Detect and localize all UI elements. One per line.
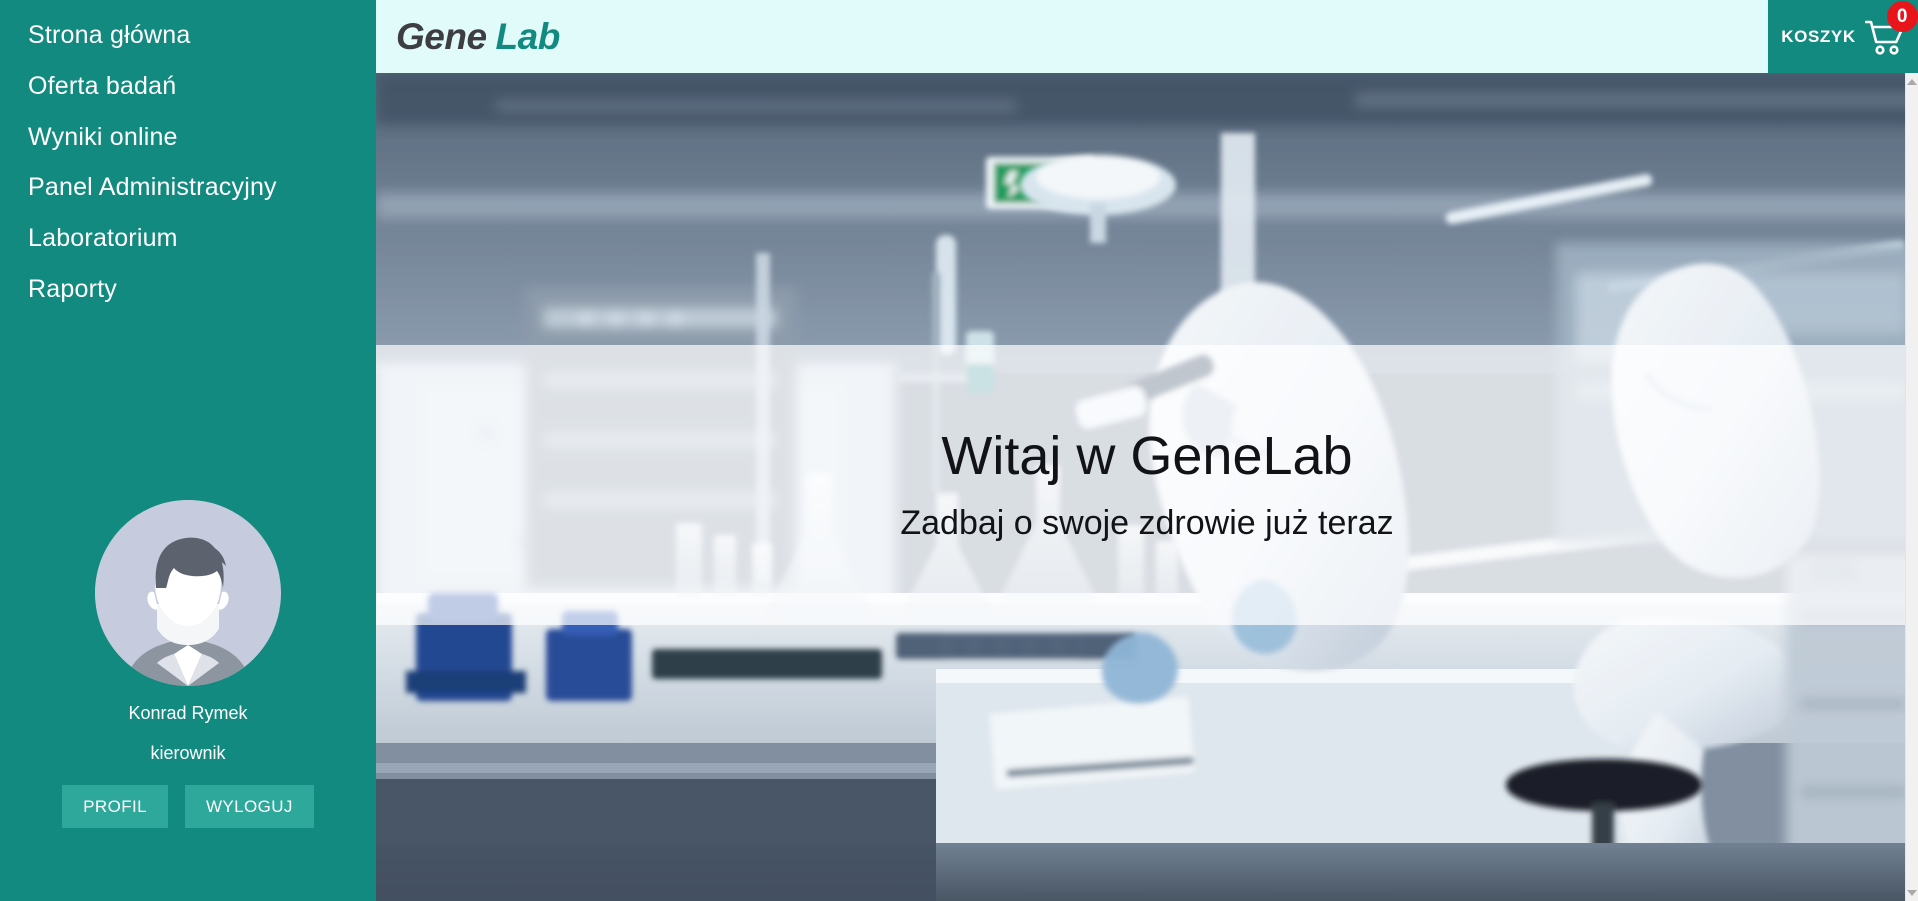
sidebar-item-strona-glowna[interactable]: Strona główna [0, 10, 376, 61]
scroll-down-arrow-icon[interactable] [1906, 886, 1918, 899]
app-root: Strona główna Oferta badań Wyniki online… [0, 0, 1918, 901]
page-scrollbar[interactable] [1905, 73, 1918, 901]
profile-actions: PROFIL WYLOGUJ [0, 785, 376, 828]
logo-text-gene: Gene [396, 16, 487, 57]
user-avatar-icon [95, 500, 281, 686]
sidebar-item-raporty[interactable]: Raporty [0, 264, 376, 315]
avatar [95, 500, 281, 686]
sidebar-item-laboratorium[interactable]: Laboratorium [0, 213, 376, 264]
sidebar-item-oferta-badan[interactable]: Oferta badań [0, 61, 376, 112]
main-content: GeneLab KOSZYK 0 [376, 0, 1918, 901]
top-header: GeneLab KOSZYK 0 [376, 0, 1918, 73]
cart-count-badge: 0 [1887, 1, 1918, 32]
logout-button[interactable]: WYLOGUJ [185, 785, 314, 828]
profile-role: kierownik [0, 743, 376, 765]
cart-icon-wrapper: 0 [1865, 19, 1905, 55]
profile-button[interactable]: PROFIL [62, 785, 168, 828]
profile-name: Konrad Rymek [0, 703, 376, 725]
cart-button[interactable]: KOSZYK 0 [1768, 0, 1918, 73]
logo-text-lab: Lab [496, 16, 560, 57]
hero-banner: G/S Witaj w GeneLab Zadbaj o swoje zdrow… [376, 73, 1918, 901]
user-profile-panel: Konrad Rymek kierownik PROFIL WYLOGUJ [0, 500, 376, 828]
app-logo[interactable]: GeneLab [396, 18, 560, 55]
sidebar-item-panel-administracyjny[interactable]: Panel Administracyjny [0, 162, 376, 213]
scroll-up-arrow-icon[interactable] [1906, 75, 1918, 88]
cart-label: KOSZYK [1781, 27, 1855, 47]
main-navigation: Strona główna Oferta badań Wyniki online… [0, 0, 376, 315]
sidebar-item-wyniki-online[interactable]: Wyniki online [0, 112, 376, 163]
sidebar: Strona główna Oferta badań Wyniki online… [0, 0, 376, 901]
laboratory-photo: G/S [376, 73, 1918, 901]
